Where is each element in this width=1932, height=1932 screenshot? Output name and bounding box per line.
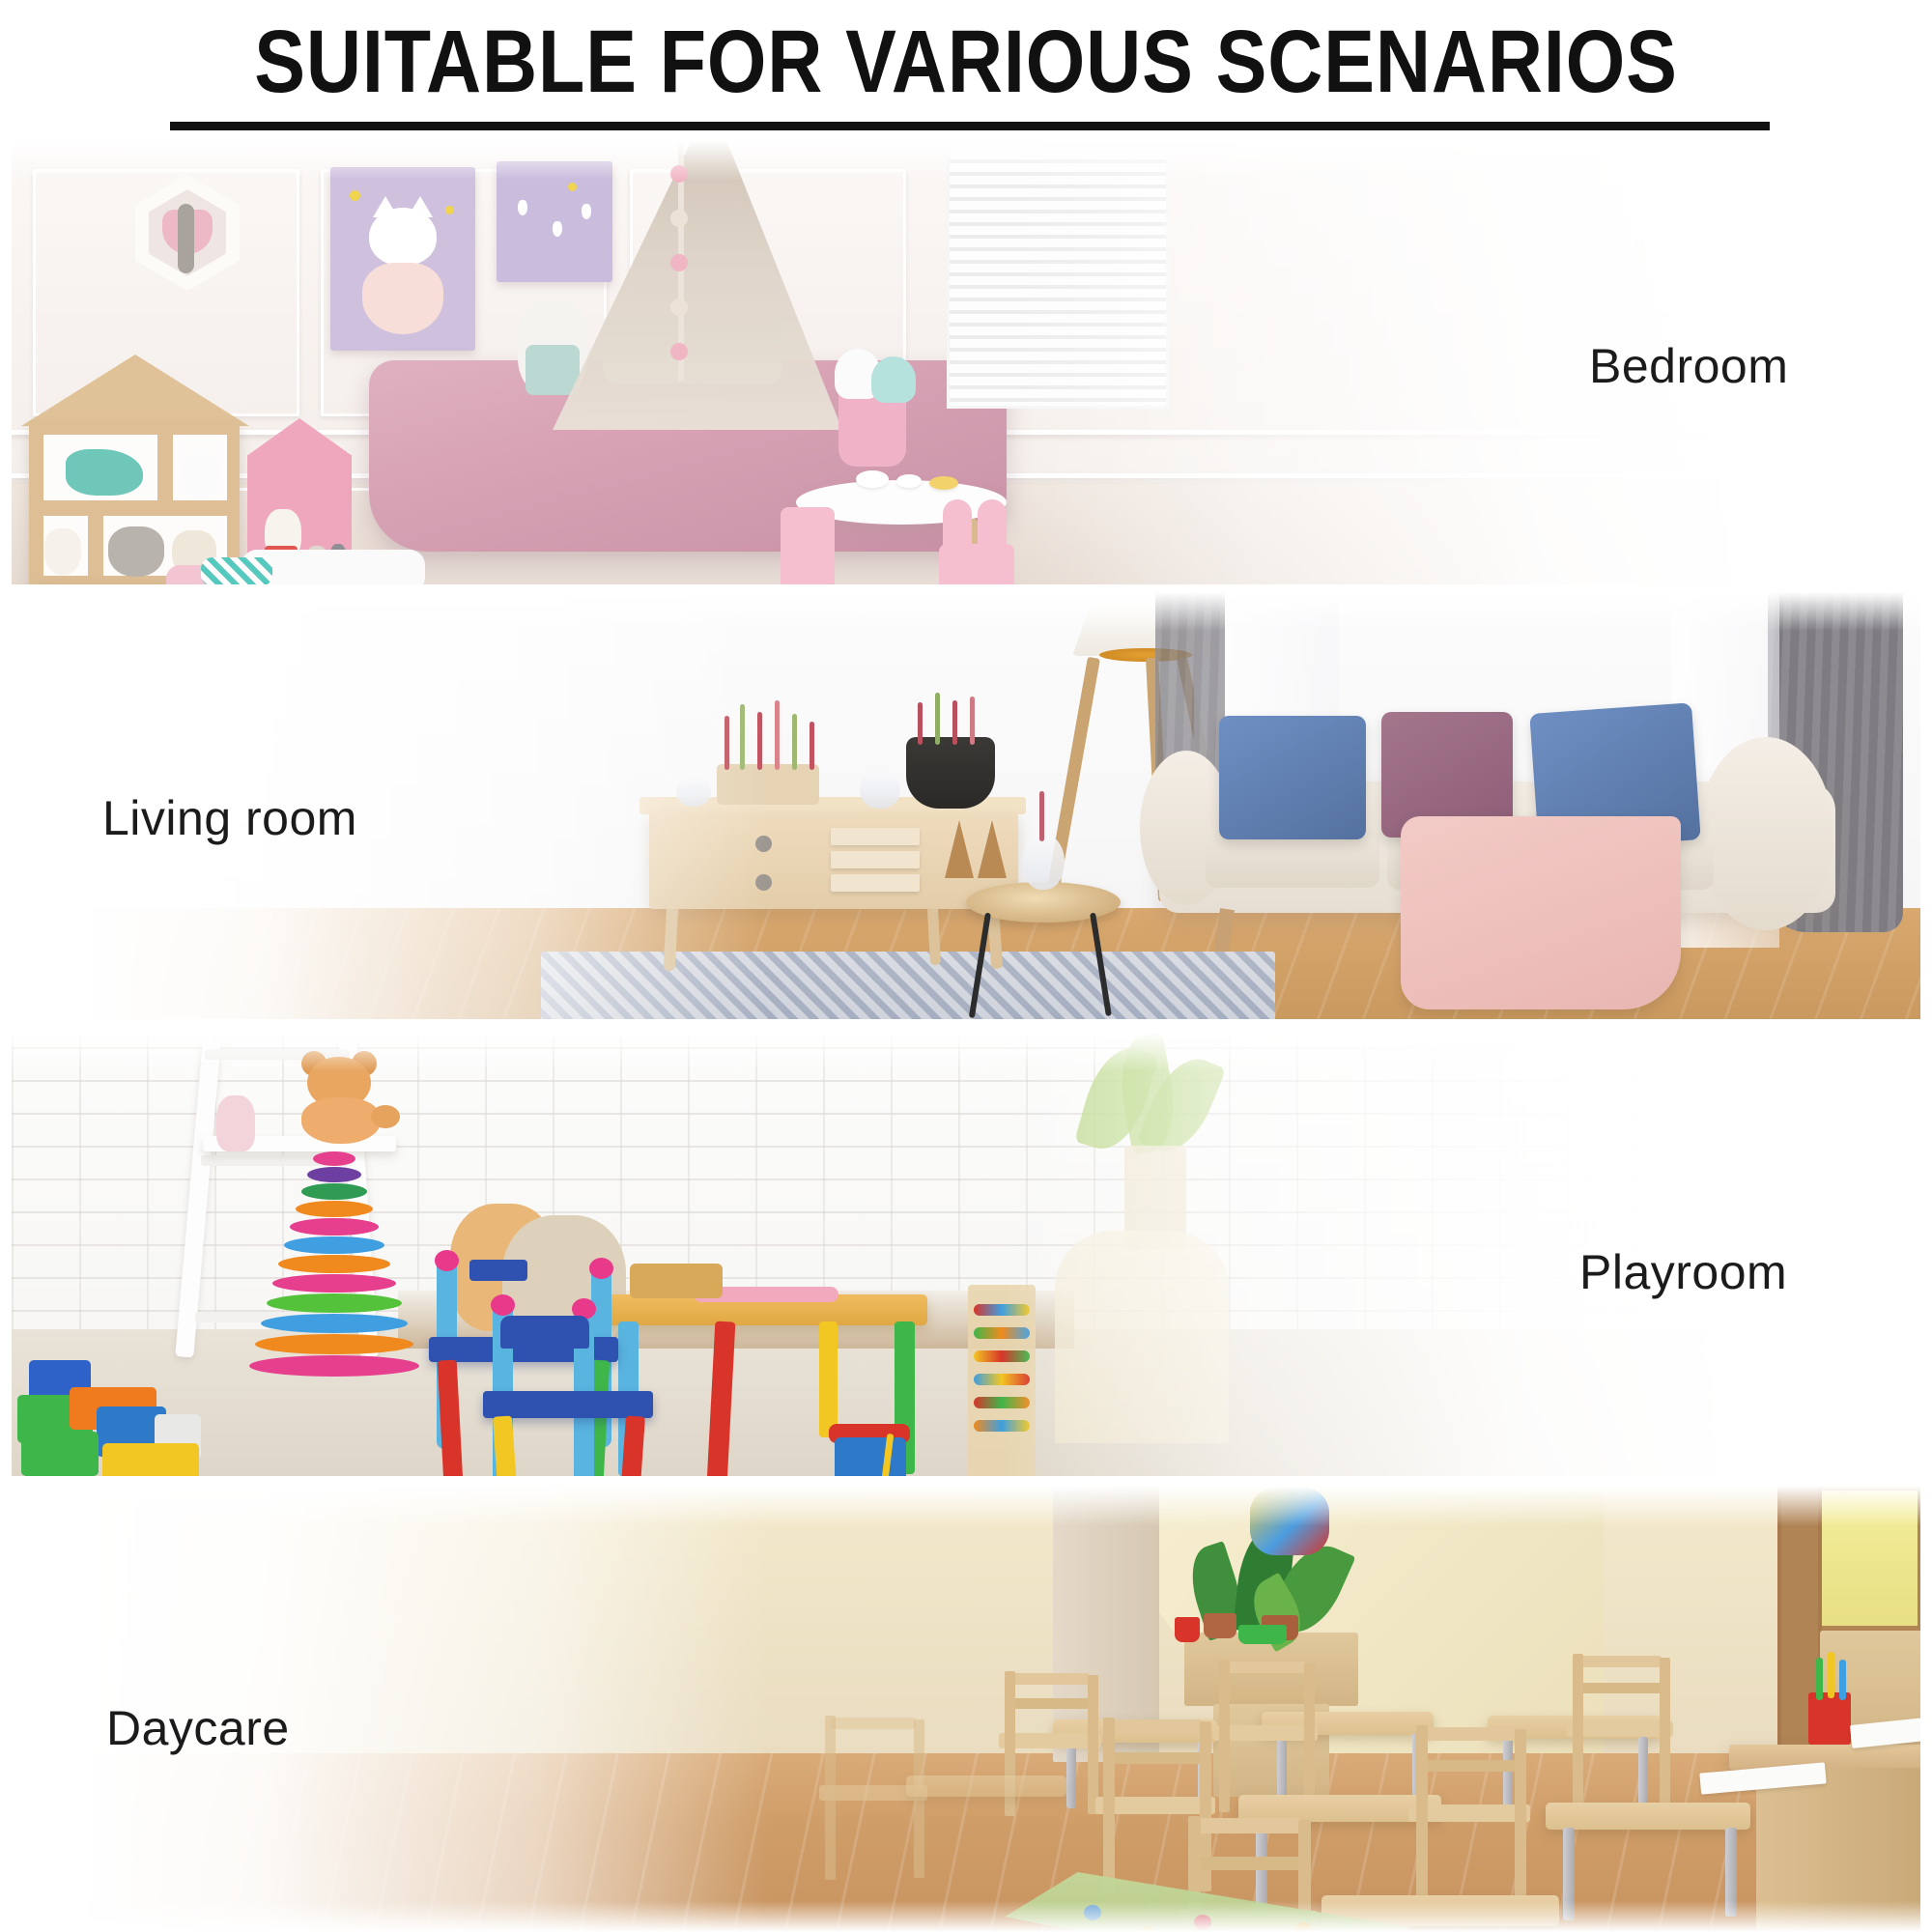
heart-cushion-mint xyxy=(871,356,916,403)
sideboard-book-2 xyxy=(831,851,920,868)
kids-table-leg-yellow xyxy=(819,1321,838,1437)
chair-leg-r1c1b xyxy=(1088,1675,1098,1814)
floor-cushion-striped xyxy=(201,557,272,584)
teddy-body xyxy=(301,1097,381,1144)
heather2-stem-4 xyxy=(970,696,975,745)
unicorn-plush xyxy=(182,451,220,497)
ring-4 xyxy=(296,1201,373,1217)
teddy-arm xyxy=(371,1105,400,1128)
desk-leg-r1c3b xyxy=(1638,1737,1648,1810)
chair-back-r1c1 xyxy=(1010,1673,1090,1685)
chair-slat-r1c3 xyxy=(1578,1683,1662,1693)
cat-poster-head xyxy=(369,208,437,266)
chair-leg-r2c2b xyxy=(1515,1729,1526,1903)
teddy-scarf xyxy=(469,1260,527,1281)
heather-stem-5 xyxy=(792,714,797,770)
chair-leg-r1c2a xyxy=(1219,1660,1230,1812)
ring-9 xyxy=(267,1293,402,1313)
playroom-fade-top xyxy=(12,1032,1847,1071)
scenario-label-bedroom: Bedroom xyxy=(1589,338,1788,394)
poster-dot-yellow-2 xyxy=(445,206,454,214)
ring-2 xyxy=(307,1167,361,1182)
kids-chair-right xyxy=(939,544,1014,584)
scenario-label-daycare: Daycare xyxy=(106,1700,290,1756)
chair-back-far-1 xyxy=(831,1718,916,1729)
scenario-label-living-room: Living room xyxy=(102,790,357,846)
toy-teapot xyxy=(856,470,889,488)
heather2-stem-1 xyxy=(918,702,923,745)
bedroom-fade-top xyxy=(12,140,1866,180)
poster-dot-yellow xyxy=(350,190,360,201)
sideboard-book-3 xyxy=(831,874,920,892)
cat-ear-right-icon xyxy=(408,196,433,217)
vase-stem xyxy=(1039,791,1044,841)
sideboard-book-1 xyxy=(831,828,920,845)
bedroom-scene xyxy=(12,140,1866,584)
doll-on-ladder xyxy=(216,1095,255,1151)
cat-poster-body xyxy=(362,263,443,334)
chair-leg-r1c2b xyxy=(1304,1663,1315,1810)
ring-12 xyxy=(249,1355,419,1377)
sand-bucket xyxy=(835,1437,906,1476)
pompom-3 xyxy=(670,254,688,271)
dollhouse-roof xyxy=(21,355,249,426)
pen-blue xyxy=(1839,1660,1846,1700)
chair-leg-r1c3b xyxy=(1660,1658,1670,1810)
pen-cup xyxy=(1808,1692,1851,1745)
poster-drop-1 xyxy=(518,200,527,215)
chair-back-r1c3 xyxy=(1578,1656,1662,1667)
desk-leg-r1c3a xyxy=(1503,1737,1513,1812)
heather-stem-6 xyxy=(810,722,814,770)
pompom-5 xyxy=(670,343,688,360)
chair-leg-r1c3a xyxy=(1573,1654,1583,1812)
sofa-pillow-blue-left xyxy=(1219,716,1366,839)
ring-10 xyxy=(261,1314,408,1333)
candle-glass xyxy=(860,770,900,809)
poster-dot-3 xyxy=(568,183,577,191)
plant-pot-1 xyxy=(1204,1613,1236,1638)
chair-leg-r2c1a xyxy=(1103,1718,1115,1893)
ring-8 xyxy=(272,1274,396,1293)
kids-chair-left xyxy=(781,507,835,584)
ring-1 xyxy=(313,1151,355,1166)
page-title: SUITABLE FOR VARIOUS SCENARIOS xyxy=(135,12,1797,112)
desk-leg-r1c1a xyxy=(1066,1741,1076,1808)
ring-3 xyxy=(301,1183,367,1200)
heather2-stem-2 xyxy=(935,693,940,745)
bear-plush-sweater xyxy=(526,345,580,395)
poster-drop-2 xyxy=(553,221,562,237)
toy-plate-yellow xyxy=(929,476,958,490)
chair1-knob-right xyxy=(589,1258,613,1279)
chair-slat-r3c1 xyxy=(1194,1857,1300,1870)
glass-bud-vase xyxy=(1022,834,1065,890)
pompom-4 xyxy=(670,298,688,316)
living-room-fade-top xyxy=(0,592,1920,631)
daycare-fade-top xyxy=(0,1486,1920,1526)
chair-back-r1c2 xyxy=(1225,1662,1306,1673)
chair-back-r2c2 xyxy=(1422,1727,1517,1741)
chair-slat-r2c1 xyxy=(1109,1752,1202,1764)
ring-7 xyxy=(278,1255,390,1273)
toy-teacup xyxy=(896,474,922,488)
chair1-knob-left xyxy=(435,1250,459,1271)
cat-ear-left-icon xyxy=(373,196,398,217)
chair-back-r3c1 xyxy=(1194,1818,1300,1833)
chair2-backrest xyxy=(500,1316,589,1349)
chair-slat-r1c1 xyxy=(1010,1698,1090,1709)
black-planter xyxy=(906,737,995,809)
mouse-plush-shelf xyxy=(108,526,164,577)
playroom-scene xyxy=(12,1032,1847,1476)
daycare-fade-bottom xyxy=(0,1901,1920,1932)
wooden-toy-plane xyxy=(630,1264,723,1298)
ring-6 xyxy=(284,1236,384,1254)
foam-block-yellow xyxy=(102,1443,199,1476)
ring-5 xyxy=(290,1218,379,1236)
desk-top-r2c2 xyxy=(1546,1803,1750,1830)
chair-leg-far-1b xyxy=(914,1719,924,1878)
foam-block-green-2 xyxy=(21,1432,99,1476)
title-underline-rule xyxy=(170,122,1770,130)
plant-tray-green xyxy=(1238,1625,1287,1644)
cat-poster xyxy=(330,167,475,351)
sofa-arm-right xyxy=(1698,737,1833,930)
watering-can xyxy=(1175,1617,1200,1642)
heather-stem-4 xyxy=(775,700,780,770)
heather-plant-black-pot xyxy=(912,693,991,743)
chair-back-r2c1 xyxy=(1109,1719,1202,1733)
header: SUITABLE FOR VARIOUS SCENARIOS xyxy=(0,0,1932,140)
pink-knit-throw xyxy=(1401,816,1681,1009)
desk-top-far-1 xyxy=(906,1776,1066,1797)
chair2-knob-left xyxy=(491,1294,515,1316)
chair2-seat xyxy=(483,1391,653,1418)
chair-leg-r2c2a xyxy=(1416,1725,1428,1907)
pen-yellow xyxy=(1828,1652,1834,1698)
ring-11 xyxy=(255,1334,413,1354)
scenario-image-bedroom xyxy=(12,140,1866,584)
bunny-plush-1 xyxy=(44,528,81,575)
scenario-label-playroom: Playroom xyxy=(1579,1244,1787,1300)
mouse-plush-toy xyxy=(178,204,194,273)
poster-drop-3 xyxy=(582,204,591,219)
pen-green xyxy=(1816,1658,1823,1700)
heather2-stem-3 xyxy=(952,700,957,745)
scenario-image-playroom xyxy=(12,1032,1847,1476)
chair-slat-r2c2 xyxy=(1422,1760,1517,1772)
chair-slat-r1c2 xyxy=(1225,1689,1306,1699)
chair-leg-far-1a xyxy=(825,1716,836,1880)
pompom-2 xyxy=(670,210,688,227)
